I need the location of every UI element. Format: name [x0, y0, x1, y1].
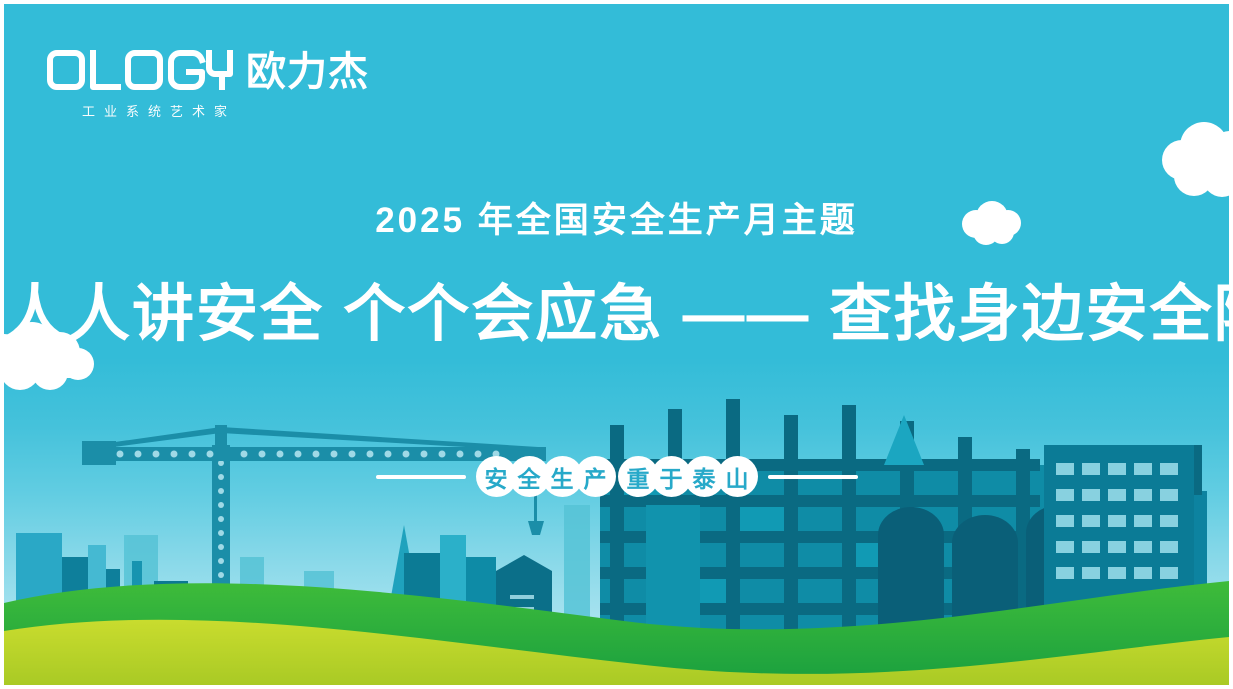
brand-logo[interactable]: 欧力杰 工业系统艺术家 — [46, 48, 346, 120]
logo-tagline: 工业系统艺术家 — [82, 101, 346, 120]
hero-text-block: 2025 年全国安全生产月主题 人人讲安全 个个会应急 —— 查找身边安全隐患 — [4, 200, 1229, 351]
rule-right — [768, 475, 858, 479]
city-scenery — [4, 385, 1229, 685]
tagline-badge: 安 全 生 产 重 于 泰 山 — [480, 456, 754, 497]
tagline-char: 产 — [575, 456, 616, 497]
rule-left — [376, 475, 466, 479]
cloud-right-icon — [1154, 122, 1229, 202]
logo-chinese-name: 欧力杰 — [246, 53, 369, 91]
safety-production-banner: 欧力杰 工业系统艺术家 2025 年全国安全生产月主题 人人讲安全 个个会应急 … — [0, 0, 1233, 689]
hero-headline: 人人讲安全 个个会应急 —— 查找身边安全隐患 — [4, 278, 1229, 351]
hero-eyebrow: 2025 年全国安全生产月主题 — [4, 200, 1229, 242]
tagline-char: 山 — [717, 456, 758, 497]
tagline-row: 安 全 生 产 重 于 泰 山 — [4, 456, 1229, 497]
sky-background: 欧力杰 工业系统艺术家 2025 年全国安全生产月主题 人人讲安全 个个会应急 … — [4, 4, 1229, 685]
ology-wordmark-icon — [46, 48, 236, 92]
